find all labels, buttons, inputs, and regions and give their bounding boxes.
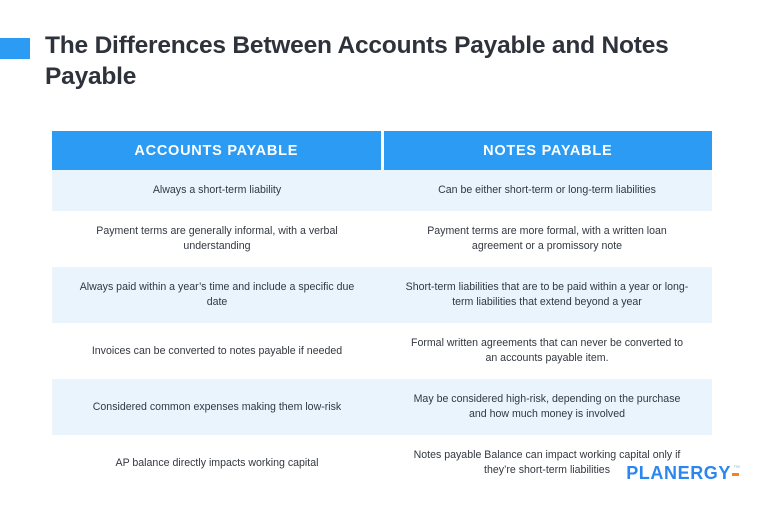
table-row: Always paid within a year’s time and inc… <box>52 267 712 323</box>
cell-notes-payable: Formal written agreements that can never… <box>382 323 712 379</box>
table-row: Invoices can be converted to notes payab… <box>52 323 712 379</box>
table-row: Payment terms are generally informal, wi… <box>52 211 712 267</box>
planergy-logo-wordmark: PLANERGY <box>626 464 731 482</box>
cell-accounts-payable: AP balance directly impacts working capi… <box>52 435 382 491</box>
planergy-logo: PLANERGY ™ <box>626 464 740 482</box>
column-header-accounts-payable: ACCOUNTS PAYABLE <box>52 131 382 170</box>
cell-accounts-payable: Payment terms are generally informal, wi… <box>52 211 382 267</box>
cell-accounts-payable: Always paid within a year’s time and inc… <box>52 267 382 323</box>
cell-notes-payable: Payment terms are more formal, with a wr… <box>382 211 712 267</box>
cell-notes-payable: May be considered high-risk, depending o… <box>382 379 712 435</box>
page-header: The Differences Between Accounts Payable… <box>0 30 768 100</box>
table-row: Considered common expenses making them l… <box>52 379 712 435</box>
table-body: Always a short-term liability Can be eit… <box>52 170 712 491</box>
logo-orange-accent-icon <box>732 473 739 476</box>
cell-accounts-payable: Invoices can be converted to notes payab… <box>52 323 382 379</box>
cell-notes-payable: Short-term liabilities that are to be pa… <box>382 267 712 323</box>
table-header: ACCOUNTS PAYABLE NOTES PAYABLE <box>52 131 712 170</box>
page-title: The Differences Between Accounts Payable… <box>45 30 735 92</box>
table-row: Always a short-term liability Can be eit… <box>52 170 712 211</box>
trademark-symbol: ™ <box>733 465 740 472</box>
cell-accounts-payable: Always a short-term liability <box>52 170 382 211</box>
cell-notes-payable: Can be either short-term or long-term li… <box>382 170 712 211</box>
column-header-notes-payable: NOTES PAYABLE <box>382 131 712 170</box>
table-header-row: ACCOUNTS PAYABLE NOTES PAYABLE <box>52 131 712 170</box>
cell-accounts-payable: Considered common expenses making them l… <box>52 379 382 435</box>
comparison-table: ACCOUNTS PAYABLE NOTES PAYABLE Always a … <box>52 131 712 491</box>
table-row: AP balance directly impacts working capi… <box>52 435 712 491</box>
blue-square-accent-icon <box>0 38 30 59</box>
comparison-table-container: ACCOUNTS PAYABLE NOTES PAYABLE Always a … <box>52 131 712 491</box>
